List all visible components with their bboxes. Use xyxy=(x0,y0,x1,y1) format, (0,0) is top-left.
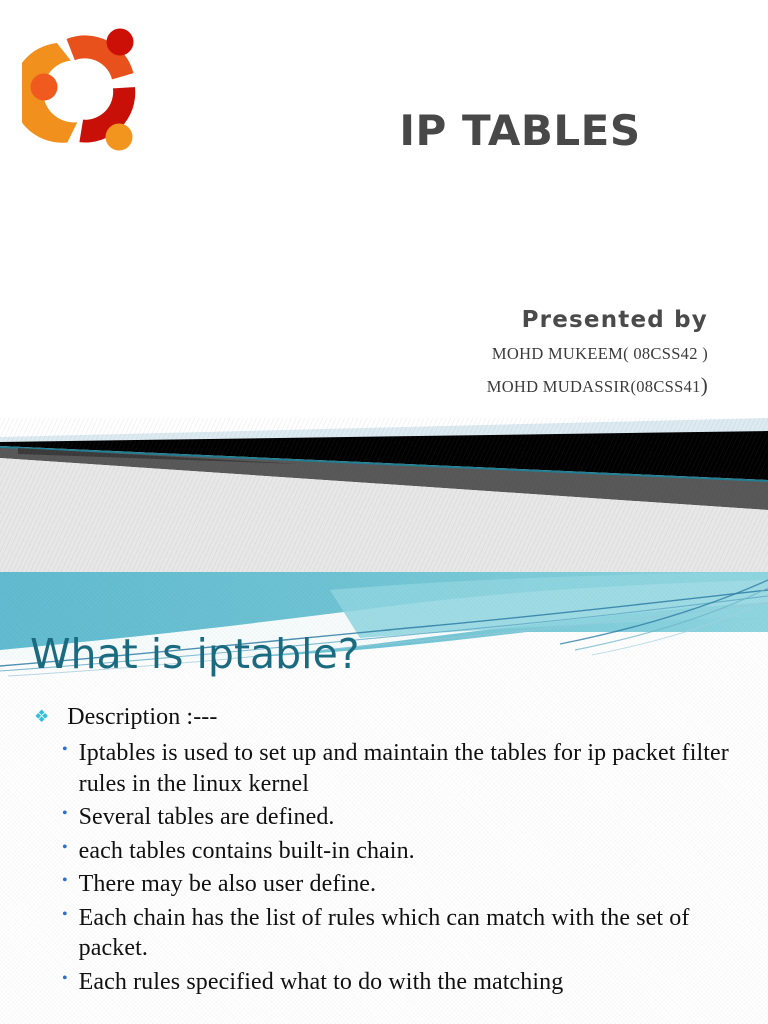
list-item: • Several tables are defined. xyxy=(0,802,768,832)
list-item: • Each chain has the list of rules which… xyxy=(0,903,768,964)
dot-bullet-icon: • xyxy=(62,806,68,822)
section-heading: What is iptable? xyxy=(30,630,360,678)
list-item-text: There may be also user define. xyxy=(79,869,377,899)
ubuntu-logo xyxy=(22,24,154,156)
dot-bullet-icon: • xyxy=(62,873,68,889)
list-item-text: Several tables are defined. xyxy=(79,802,335,832)
list-item-text: Each chain has the list of rules which c… xyxy=(79,903,739,964)
page-title: IP TABLES xyxy=(300,108,740,154)
list-item-text: Iptables is used to set up and maintain … xyxy=(79,738,739,799)
list-item-text: Description :--- xyxy=(67,702,217,732)
ubuntu-dot-top xyxy=(107,29,134,56)
dot-bullet-icon: • xyxy=(62,907,68,923)
presenter-name-1: MOHD MUKEEM( 08CSS42 ) xyxy=(288,344,708,364)
slide-separator-banner xyxy=(0,418,768,572)
presentation-page: IP TABLES Presented by MOHD MUKEEM( 08CS… xyxy=(0,0,768,1024)
list-item: • There may be also user define. xyxy=(0,869,768,899)
diamond-bullet-icon: ❖ xyxy=(34,708,49,725)
list-item-text: Each rules specified what to do with the… xyxy=(79,967,564,997)
content-slide: What is iptable? ❖ Description :--- • Ip… xyxy=(0,572,768,1024)
presenter-name-2: MOHD MUDASSIR(08CSS41) xyxy=(288,373,708,398)
list-item: • Iptables is used to set up and maintai… xyxy=(0,738,768,799)
dot-bullet-icon: • xyxy=(62,971,68,987)
list-item: • Each rules specified what to do with t… xyxy=(0,967,768,997)
ubuntu-dot-bottom xyxy=(106,124,133,151)
title-slide: IP TABLES Presented by MOHD MUKEEM( 08CS… xyxy=(0,0,768,418)
presented-by-label: Presented by xyxy=(288,306,708,335)
list-item: ❖ Description :--- xyxy=(0,702,768,732)
dot-bullet-icon: • xyxy=(62,840,68,856)
bullet-list: ❖ Description :--- • Iptables is used to… xyxy=(0,702,768,1000)
dot-bullet-icon: • xyxy=(62,742,68,758)
list-item: • each tables contains built-in chain. xyxy=(0,836,768,866)
ubuntu-dot-left xyxy=(31,74,58,101)
presenter-block: Presented by MOHD MUKEEM( 08CSS42 ) MOHD… xyxy=(288,306,708,398)
list-item-text: each tables contains built-in chain. xyxy=(79,836,415,866)
